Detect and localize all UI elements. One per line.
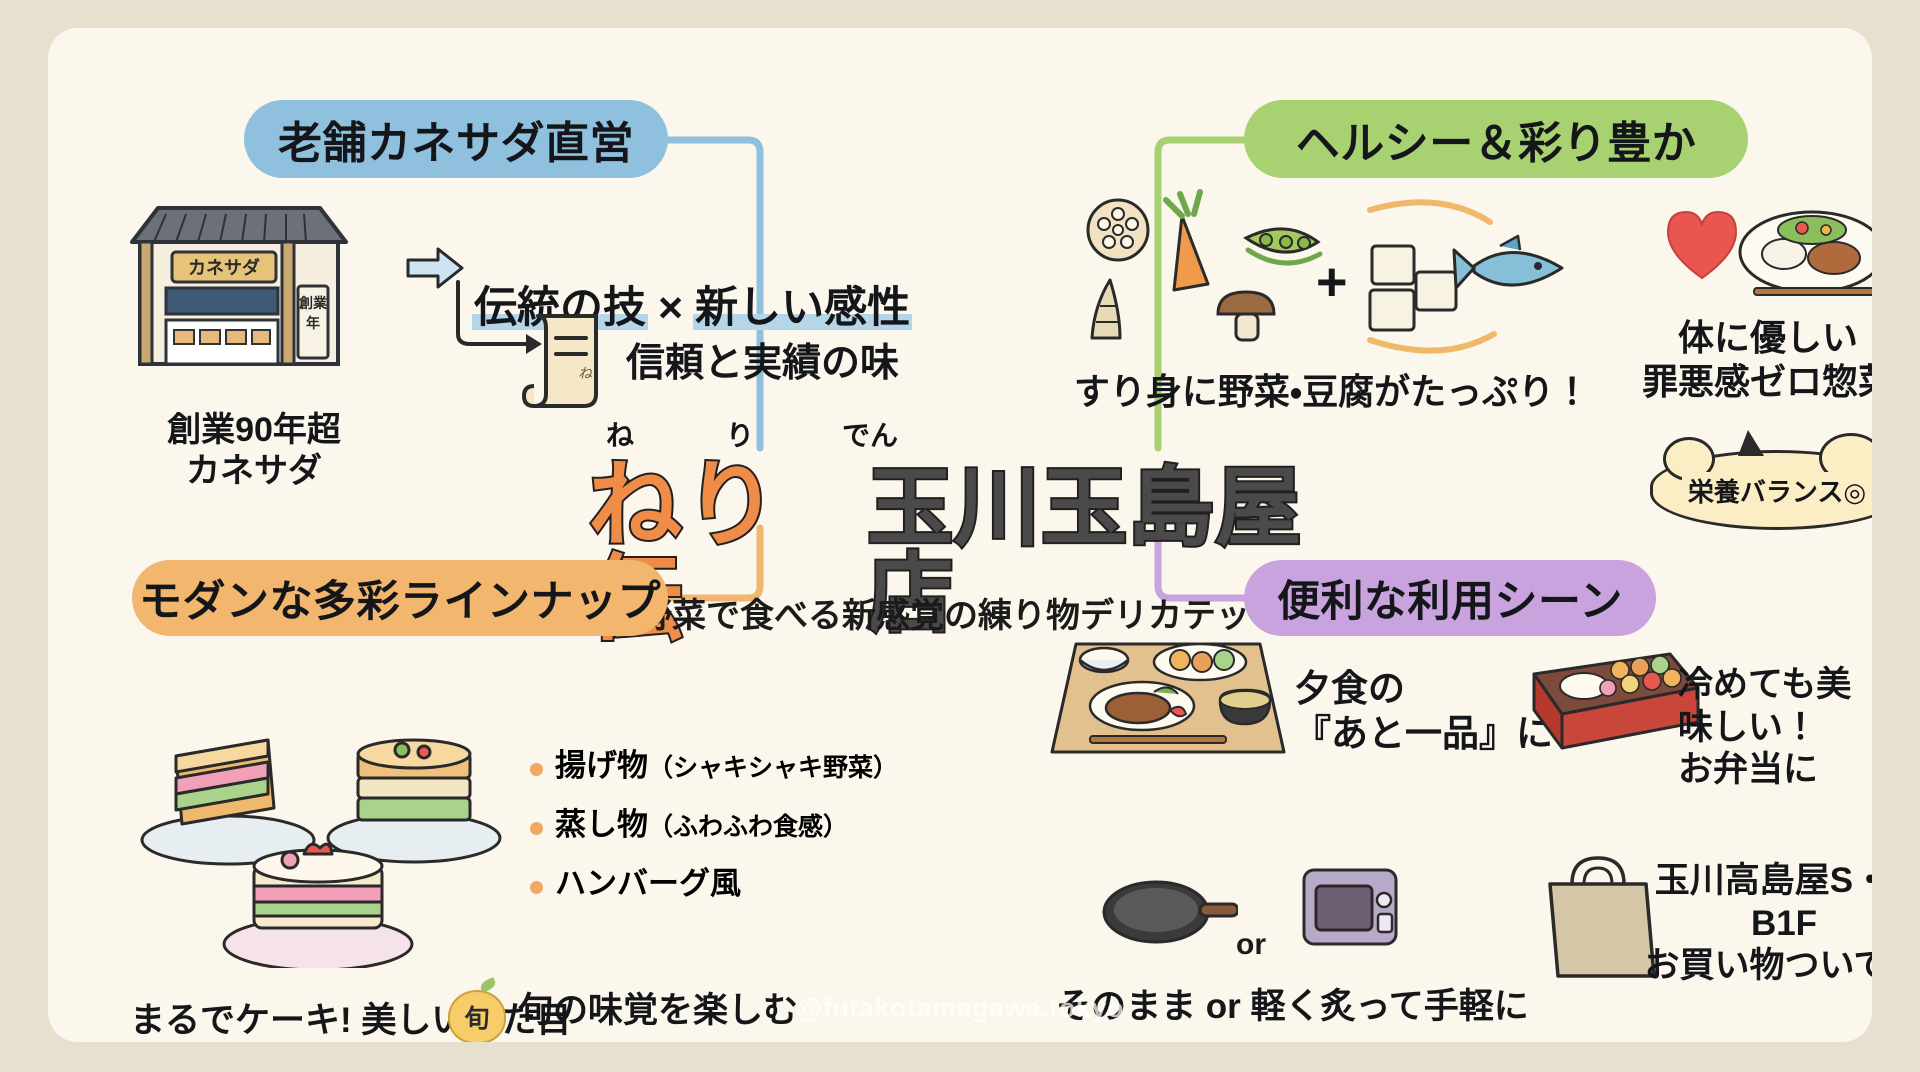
furigana-ri: り — [726, 414, 754, 454]
dinner-tray-illustration — [1038, 618, 1298, 778]
watermark: @futakotamagawa.tokyo — [48, 993, 1872, 1024]
heritage-scroll-text: 信頼と実績の味 — [626, 340, 899, 388]
healthy-caption: すり身に野菜・豆腐がたっぷり！ — [1072, 370, 1592, 414]
pill-healthy: ヘルシー＆彩り豊か — [1244, 100, 1748, 178]
pill-heritage: 老舗カネサダ直営 — [244, 100, 668, 178]
bullet-main: 蒸し物 — [555, 807, 648, 842]
bullet-main: ハンバーグ風 — [555, 866, 741, 901]
heritage-tagline-x: × — [648, 284, 693, 332]
pill-healthy-label: ヘルシー＆彩り豊か — [1296, 107, 1697, 171]
infographic-canvas: 老舗カネサダ直営 カネサダ 創業 年 創業90年超 カネサダ — [0, 0, 1920, 1072]
scroll-icon: ね — [518, 308, 614, 412]
svg-text:創業: 創業 — [299, 295, 328, 311]
cake-products-illustration — [118, 658, 518, 968]
cloud-tail — [1738, 430, 1764, 456]
bullet-sub: （ふわふわ食感） — [648, 813, 848, 841]
svg-text:年: 年 — [306, 315, 320, 331]
pill-lineup-label: モダンな多彩ラインナップ — [139, 567, 661, 629]
heritage-caption: 創業90年超 カネサダ — [134, 410, 374, 493]
pill-scenes-label: 便利な利用シーン — [1277, 567, 1623, 629]
bullet-sub: （シャキシャキ野菜） — [648, 754, 898, 782]
bullet-dot-icon — [530, 822, 543, 835]
list-item: 蒸し物（ふわふわ食感） — [530, 799, 1000, 844]
healthy-plate-illustration — [1636, 196, 1872, 306]
list-item: 揚げ物（シャキシャキ野菜） — [530, 740, 1000, 785]
brand-furigana: ね り でん — [588, 414, 1348, 454]
scenes-bento-caption: 冷めても美味しい！ お弁当に — [1678, 664, 1872, 792]
svg-text:ね: ね — [578, 365, 593, 381]
pill-heritage-label: 老舗カネサダ直営 — [278, 107, 634, 171]
furigana-den: でん — [842, 414, 898, 454]
shop-illustration: カネサダ 創業 年 — [114, 168, 364, 378]
bullet-dot-icon — [530, 881, 543, 894]
infographic-card: 老舗カネサダ直営 カネサダ 創業 年 創業90年超 カネサダ — [48, 28, 1872, 1042]
list-item: ハンバーグ風 — [530, 858, 1000, 903]
frying-pan-icon — [1088, 856, 1238, 966]
bullet-dot-icon — [530, 763, 543, 776]
heritage-tagline-2: 新しい感性 — [693, 284, 912, 332]
healthy-plus-sign: + — [1316, 250, 1348, 316]
healthy-right-caption: 体に優しい 罪悪感ゼロ惣菜 — [1620, 316, 1872, 404]
pill-scenes: 便利な利用シーン — [1244, 560, 1656, 636]
nutrition-cloud-label: 栄養バランス◎ — [1682, 472, 1872, 509]
pill-lineup: モダンな多彩ラインナップ — [132, 560, 668, 636]
scenes-or-label: or — [1236, 928, 1266, 962]
lineup-bullet-list: 揚げ物（シャキシャキ野菜） 蒸し物（ふわふわ食感） ハンバーグ風 — [530, 740, 1000, 917]
scenes-store-caption: 玉川高島屋S・C B1F お買い物ついでに — [1634, 860, 1872, 988]
furigana-ne: ね — [606, 414, 634, 454]
shop-sign-text: カネサダ — [188, 257, 260, 278]
nutrition-cloud-badge: 栄養バランス◎ — [1650, 450, 1872, 530]
toaster-icon — [1286, 848, 1416, 960]
bullet-main: 揚げ物 — [555, 748, 648, 783]
